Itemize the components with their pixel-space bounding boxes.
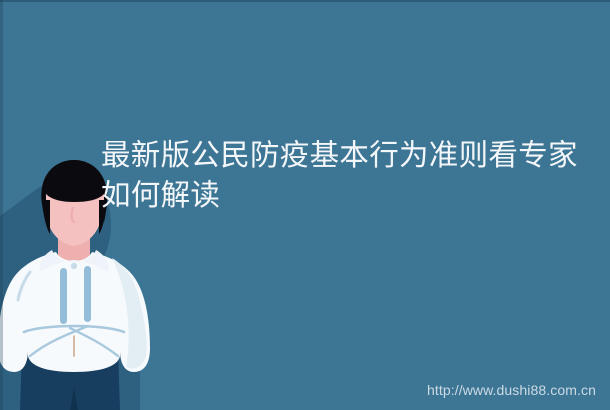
hoodie bbox=[0, 250, 150, 372]
poster-canvas: 最新版公民防疫基本行为准则看专家如何解读 http://www.dushi88.… bbox=[0, 0, 610, 410]
headline-text: 最新版公民防疫基本行为准则看专家如何解读 bbox=[101, 136, 593, 216]
watermark-url: http://www.dushi88.com.cn bbox=[427, 382, 596, 398]
